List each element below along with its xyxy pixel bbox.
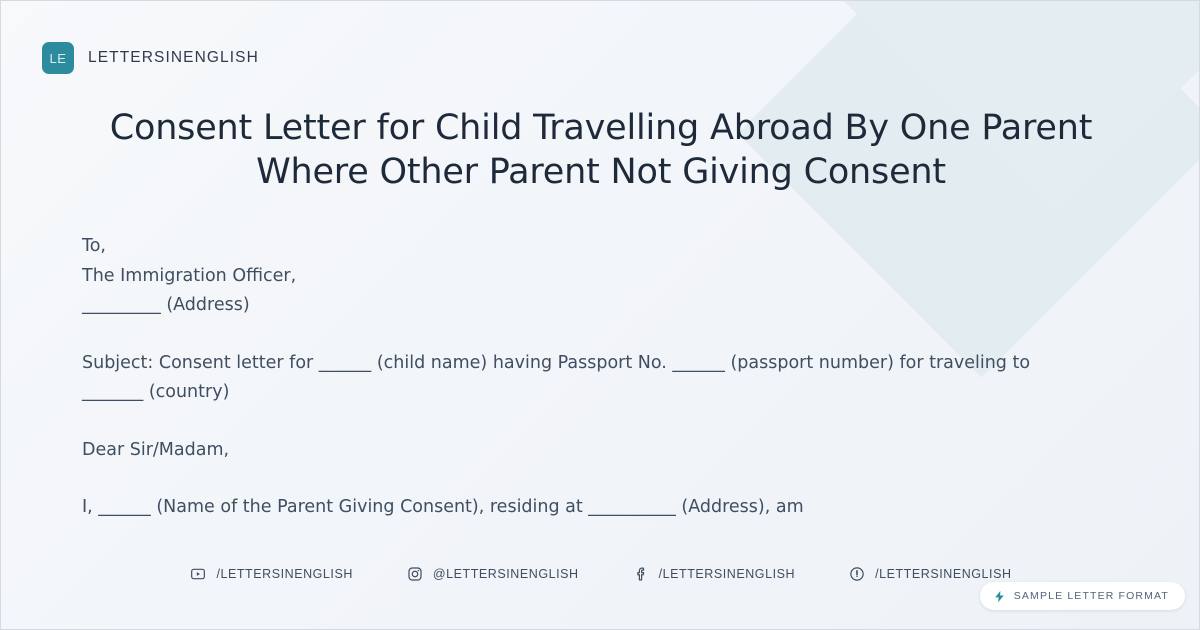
social-handle-youtube: /LETTERSINENGLISH xyxy=(216,567,352,581)
brand-name: LETTERSINENGLISH xyxy=(88,49,259,67)
sample-letter-format-badge[interactable]: SAMPLE LETTER FORMAT xyxy=(980,582,1185,610)
brand-logo[interactable]: LE LETTERSINENGLISH xyxy=(42,42,259,74)
social-link-facebook[interactable]: /LETTERSINENGLISH xyxy=(633,566,795,582)
social-handle-pinterest: /LETTERSINENGLISH xyxy=(875,567,1011,581)
youtube-icon xyxy=(190,566,206,582)
opening-paragraph: I, ______ (Name of the Parent Giving Con… xyxy=(82,493,1092,523)
social-link-pinterest[interactable]: /LETTERSINENGLISH xyxy=(849,566,1011,582)
pinterest-icon xyxy=(849,566,865,582)
letter-body: To, The Immigration Officer, _________ (… xyxy=(82,232,1092,523)
page-title: Consent Letter for Child Travelling Abro… xyxy=(61,106,1141,194)
social-link-youtube[interactable]: /LETTERSINENGLISH xyxy=(190,566,352,582)
recipient-line-officer: The Immigration Officer, xyxy=(82,262,1092,292)
brand-mark-icon: LE xyxy=(42,42,74,74)
brand-mark-text: LE xyxy=(50,51,67,66)
subject-line: Subject: Consent letter for ______ (chil… xyxy=(82,349,1092,408)
social-handle-facebook: /LETTERSINENGLISH xyxy=(659,567,795,581)
social-link-instagram[interactable]: @LETTERSINENGLISH xyxy=(407,566,579,582)
instagram-icon xyxy=(407,566,423,582)
lightning-bolt-icon xyxy=(993,589,1006,604)
recipient-block: To, The Immigration Officer, _________ (… xyxy=(82,232,1092,321)
page-title-line-2: Where Other Parent Not Giving Consent xyxy=(61,150,1141,194)
page-title-line-1: Consent Letter for Child Travelling Abro… xyxy=(61,106,1141,150)
greeting-line: Dear Sir/Madam, xyxy=(82,436,1092,466)
social-links-bar: /LETTERSINENGLISH @LETTERSINENGLISH /LET… xyxy=(1,566,1200,582)
letter-card: LE LETTERSINENGLISH Consent Letter for C… xyxy=(0,0,1200,630)
social-handle-instagram: @LETTERSINENGLISH xyxy=(433,567,579,581)
recipient-line-address: _________ (Address) xyxy=(82,291,1092,321)
badge-label: SAMPLE LETTER FORMAT xyxy=(1014,590,1169,602)
recipient-line-to: To, xyxy=(82,232,1092,262)
facebook-icon xyxy=(633,566,649,582)
